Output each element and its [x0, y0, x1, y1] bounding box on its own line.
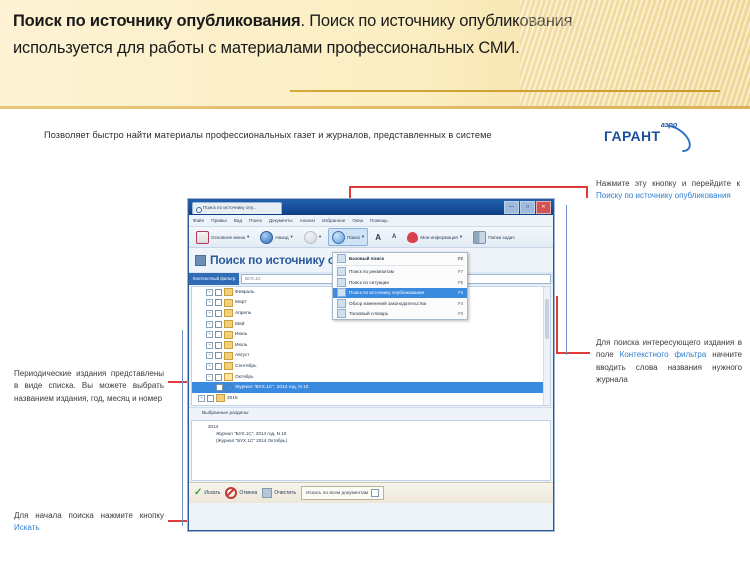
attributes-search-icon [337, 267, 346, 276]
menu-item-view[interactable]: Вид [234, 218, 242, 223]
folder-icon [224, 299, 233, 307]
dictionary-icon [337, 309, 346, 318]
checkbox-icon[interactable] [215, 310, 222, 317]
toolbar-search-label: Поиск [347, 235, 360, 240]
menu-bar: Файл Правка Вид Поиск Документы Анализ И… [189, 215, 553, 227]
expander-icon[interactable]: + [206, 352, 213, 359]
checkbox-icon[interactable] [215, 289, 222, 296]
clear-action-label: Очистить [274, 490, 296, 496]
tree-row[interactable]: + Август [192, 351, 550, 362]
tree-row-label: Журнал "БУХ.1С", 2014 год, N 10 [235, 385, 308, 390]
search-icon [332, 231, 345, 244]
dropdown-item-shortcut: F5 [458, 280, 463, 285]
checkbox-icon[interactable] [215, 321, 222, 328]
expander-icon[interactable]: + [206, 299, 213, 306]
list-item[interactable]: Журнал "БУХ.1С", 2014 год, N 10 [198, 431, 550, 438]
tree-row-label: Апрель [235, 311, 251, 316]
folder-icon [224, 341, 233, 349]
selected-sections-title: Выбранные разделы [202, 411, 248, 416]
expander-icon[interactable]: − [206, 374, 213, 381]
toolbar-back-button[interactable]: Назад ▾ [256, 228, 296, 246]
tree-scrollbar[interactable] [543, 287, 550, 405]
window-title-bar: Поиск по источнику опу... — □ ✕ [189, 200, 553, 215]
dropdown-item-shortcut: F9 [458, 290, 463, 295]
dropdown-item-explanatory-dictionary[interactable]: Толковый словарь F3 [333, 309, 467, 320]
expander-icon[interactable]: + [206, 289, 213, 296]
expander-icon[interactable]: + [198, 405, 205, 406]
window-controls: — □ ✕ [504, 201, 551, 214]
garant-application-window: Поиск по источнику опу... — □ ✕ Файл Пра… [188, 199, 554, 531]
toolbar-back-caret-icon: ▾ [291, 234, 293, 240]
dropdown-item-shortcut: F2 [458, 256, 463, 261]
dropdown-item-shortcut: F3 [458, 311, 463, 316]
checkbox-icon[interactable] [215, 363, 222, 370]
forward-icon [304, 231, 317, 244]
callout-right-top: Нажмите эту кнопку и перейдите к Поиску … [596, 178, 740, 203]
tree-row[interactable]: + Июль [192, 340, 550, 351]
connector-right-bottom-vertical [556, 296, 558, 353]
folder-icon [216, 394, 225, 402]
checkbox-icon[interactable] [216, 384, 223, 391]
tree-row[interactable]: + 2016 [192, 404, 550, 406]
selected-sections-header: Выбранные разделы [189, 407, 553, 419]
dropdown-item-label: Обзор изменений законодательства [349, 301, 426, 306]
dropdown-item-search-by-attributes[interactable]: Поиск по реквизитам F7 [333, 267, 467, 278]
menu-item-windows[interactable]: Окна [352, 218, 363, 223]
minimize-button[interactable]: — [504, 201, 519, 214]
header-text: Поиск по источнику опубликования. Поиск … [13, 8, 673, 61]
toolbar-my-info-label: Моя информация [420, 235, 458, 240]
header-gold-rule [290, 90, 720, 92]
close-button[interactable]: ✕ [536, 201, 551, 214]
dropdown-item-label: Толковый словарь [349, 311, 388, 316]
toolbar-search-caret-icon: ▾ [362, 234, 364, 240]
folder-icon [224, 288, 233, 296]
dropdown-item-label: Поиск по источнику опубликования [349, 290, 424, 295]
tree-row[interactable]: + 2015 [192, 393, 550, 404]
clear-icon [262, 488, 272, 498]
expander-icon[interactable]: + [198, 395, 205, 402]
checkbox-icon[interactable] [215, 331, 222, 338]
toolbar-task-folders-label: Папки задач [488, 235, 514, 240]
toolbar-font-larger-button[interactable]: A [371, 228, 385, 246]
heart-icon [407, 232, 418, 243]
dropdown-item-label: Поиск по ситуации [349, 280, 389, 285]
folder-icon [216, 405, 225, 406]
folder-icon [224, 320, 233, 328]
dropdown-item-search-by-publication-source[interactable]: Поиск по источнику опубликования F9 [333, 288, 467, 299]
callout-left-bottom-highlight: Искать [14, 523, 40, 532]
journal-icon [225, 384, 233, 392]
back-icon [260, 231, 273, 244]
dropdown-item-search-by-situation[interactable]: Поиск по ситуации F5 [333, 277, 467, 288]
action-button-bar: ✓ Искать Отмена Очистить Искать по всем … [189, 482, 553, 503]
tree-row[interactable]: + Май [192, 319, 550, 330]
folder-icon [224, 352, 233, 360]
callout-left-bottom-text: Для начала поиска нажмите кнопку [14, 511, 164, 520]
tree-scrollbar-thumb[interactable] [545, 299, 549, 339]
cancel-action-label: Отмена [239, 490, 257, 496]
menu-item-help[interactable]: Помощь [370, 218, 388, 223]
checkbox-icon[interactable] [371, 489, 379, 497]
tree-row[interactable]: − Октябрь [192, 372, 550, 383]
checkbox-icon[interactable] [207, 395, 214, 402]
toolbar-back-label: Назад [275, 235, 288, 240]
expander-icon[interactable]: + [206, 363, 213, 370]
search-action-button[interactable]: ✓ Искать [194, 488, 220, 498]
tree-row-label: Июль [235, 343, 247, 348]
checkbox-icon[interactable] [215, 299, 222, 306]
law-changes-icon [337, 299, 346, 308]
tree-row-label: Май [235, 322, 244, 327]
menu-item-analysis[interactable]: Анализ [300, 218, 316, 223]
tree-row[interactable]: + Июнь [192, 329, 550, 340]
context-filter-tab[interactable]: Контекстный фильтр [189, 273, 239, 285]
checkbox-icon[interactable] [215, 374, 222, 381]
toolbar-main-menu-button[interactable]: Основное меню ▾ [192, 228, 253, 246]
tree-row-label: Август [235, 353, 249, 358]
guide-line-left [182, 330, 183, 526]
tree-row-label: Февраль [235, 290, 255, 295]
toolbar-forward-button[interactable]: ▾ [300, 228, 325, 246]
callout-left-bottom: Для начала поиска нажмите кнопку Искать [14, 510, 164, 535]
search-dropdown-menu[interactable]: Базовый поиск F2 Поиск по реквизитам F7 … [332, 252, 468, 320]
menu-item-documents[interactable]: Документы [269, 218, 293, 223]
toolbar-font-smaller-button[interactable]: A [388, 228, 400, 246]
checkbox-icon[interactable] [207, 405, 214, 406]
toolbar-my-info-button[interactable]: Моя информация ▾ [403, 228, 466, 246]
expander-icon[interactable]: + [206, 342, 213, 349]
toolbar-my-info-caret-icon: ▾ [460, 234, 462, 240]
folder-open-icon [224, 373, 233, 381]
header-bottom-rule [0, 106, 750, 109]
cancel-action-button[interactable]: Отмена [225, 487, 257, 499]
connector-right-bottom-horizontal [556, 352, 590, 354]
selected-sections-list: 2014 Журнал "БУХ.1С", 2014 год, N 10 (Жу… [191, 420, 551, 481]
font-larger-icon: A [375, 232, 381, 243]
tree-row-label: Март [235, 300, 246, 305]
basic-search-icon [337, 254, 346, 263]
subtitle-text: Позволяет быстро найти материалы професс… [44, 130, 604, 140]
search-all-documents-option[interactable]: Искать по всем документам [301, 486, 384, 500]
check-icon: ✓ [194, 488, 202, 498]
search-action-label: Искать [204, 490, 220, 496]
window-document-tab[interactable]: Поиск по источнику опу... [192, 202, 282, 214]
toolbar-main-menu-label: Основное меню [211, 235, 245, 240]
menu-item-file[interactable]: Файл [193, 218, 204, 223]
expander-icon[interactable]: + [206, 331, 213, 338]
toolbar-forward-caret-icon: ▾ [319, 234, 321, 240]
connector-right-top-drop [586, 186, 588, 198]
dropdown-item-basic-search[interactable]: Базовый поиск F2 [333, 253, 467, 264]
menu-item-favorites[interactable]: Избранное [322, 218, 345, 223]
cancel-icon [225, 487, 237, 499]
toolbar-main-menu-caret-icon: ▾ [247, 234, 249, 240]
checkbox-icon[interactable] [215, 342, 222, 349]
callout-right-top-text: Нажмите эту кнопку и перейдите к [596, 179, 740, 188]
list-item: (Журнал "БУХ.1С" 2014 Октябрь) [198, 438, 550, 445]
search-all-documents-label: Искать по всем документам [306, 491, 368, 496]
garant-logo: ГАРАНТ аэро [604, 122, 690, 148]
tree-row-label: Сентябрь [235, 364, 257, 369]
toolbar-task-folders-button[interactable]: Папки задач [469, 228, 518, 246]
clear-action-button[interactable]: Очистить [262, 488, 296, 498]
dropdown-item-shortcut: F7 [458, 269, 463, 274]
list-item[interactable]: 2014 [198, 424, 550, 431]
checkbox-icon[interactable] [215, 352, 222, 359]
page-title-icon [195, 255, 206, 266]
callout-right-bottom-highlight: Контекстного фильтра [620, 350, 707, 359]
guide-line-right [566, 205, 567, 355]
tree-row-label: 2015 [227, 396, 238, 401]
toolbar-search-button[interactable]: Поиск ▾ [328, 228, 368, 246]
menu-item-edit[interactable]: Правка [211, 218, 227, 223]
maximize-button[interactable]: □ [520, 201, 535, 214]
dropdown-item-shortcut: F4 [458, 301, 463, 306]
connector-right-top-horizontal [349, 186, 587, 188]
font-smaller-icon: A [392, 232, 396, 243]
slide-root: Поиск по источнику опубликования. Поиск … [0, 0, 750, 561]
selected-item-sublabel: (Журнал "БУХ.1С" 2014 Октябрь) [216, 438, 287, 443]
tree-row[interactable]: + Сентябрь [192, 361, 550, 372]
main-menu-icon [196, 231, 209, 244]
dropdown-item-label: Базовый поиск [349, 256, 384, 261]
header-bold-lead: Поиск по источнику опубликования [13, 12, 300, 30]
tree-row-label: Июнь [235, 332, 247, 337]
selected-item-label: Журнал "БУХ.1С", 2014 год, N 10 [216, 431, 286, 436]
callout-left-top: Периодические издания представлены в вид… [14, 368, 164, 405]
logo-wordmark: ГАРАНТ [604, 128, 660, 144]
book-icon [473, 231, 486, 244]
callout-right-bottom: Для поиска интересующего издания в поле … [596, 337, 742, 387]
dropdown-separator [336, 265, 464, 266]
expander-icon[interactable]: + [206, 310, 213, 317]
toolbar: Основное меню ▾ Назад ▾ ▾ Поиск ▾ A A [189, 227, 553, 248]
dropdown-item-law-changes-review[interactable]: Обзор изменений законодательства F4 [333, 298, 467, 309]
folder-icon [224, 309, 233, 317]
dropdown-item-label: Поиск по реквизитам [349, 269, 394, 274]
folder-icon [224, 331, 233, 339]
publication-source-search-icon [337, 288, 346, 297]
situation-search-icon [337, 278, 346, 287]
menu-item-search[interactable]: Поиск [249, 218, 262, 223]
selected-sections-icon [193, 411, 199, 417]
expander-icon[interactable]: + [206, 321, 213, 328]
tree-row-label: Октябрь [235, 375, 254, 380]
callout-right-top-highlight: Поиску по источнику опубликования [596, 191, 731, 200]
selected-item-label: 2014 [208, 424, 218, 429]
tree-row[interactable]: Журнал "БУХ.1С", 2014 год, N 10 [192, 382, 550, 393]
folder-icon [224, 362, 233, 370]
